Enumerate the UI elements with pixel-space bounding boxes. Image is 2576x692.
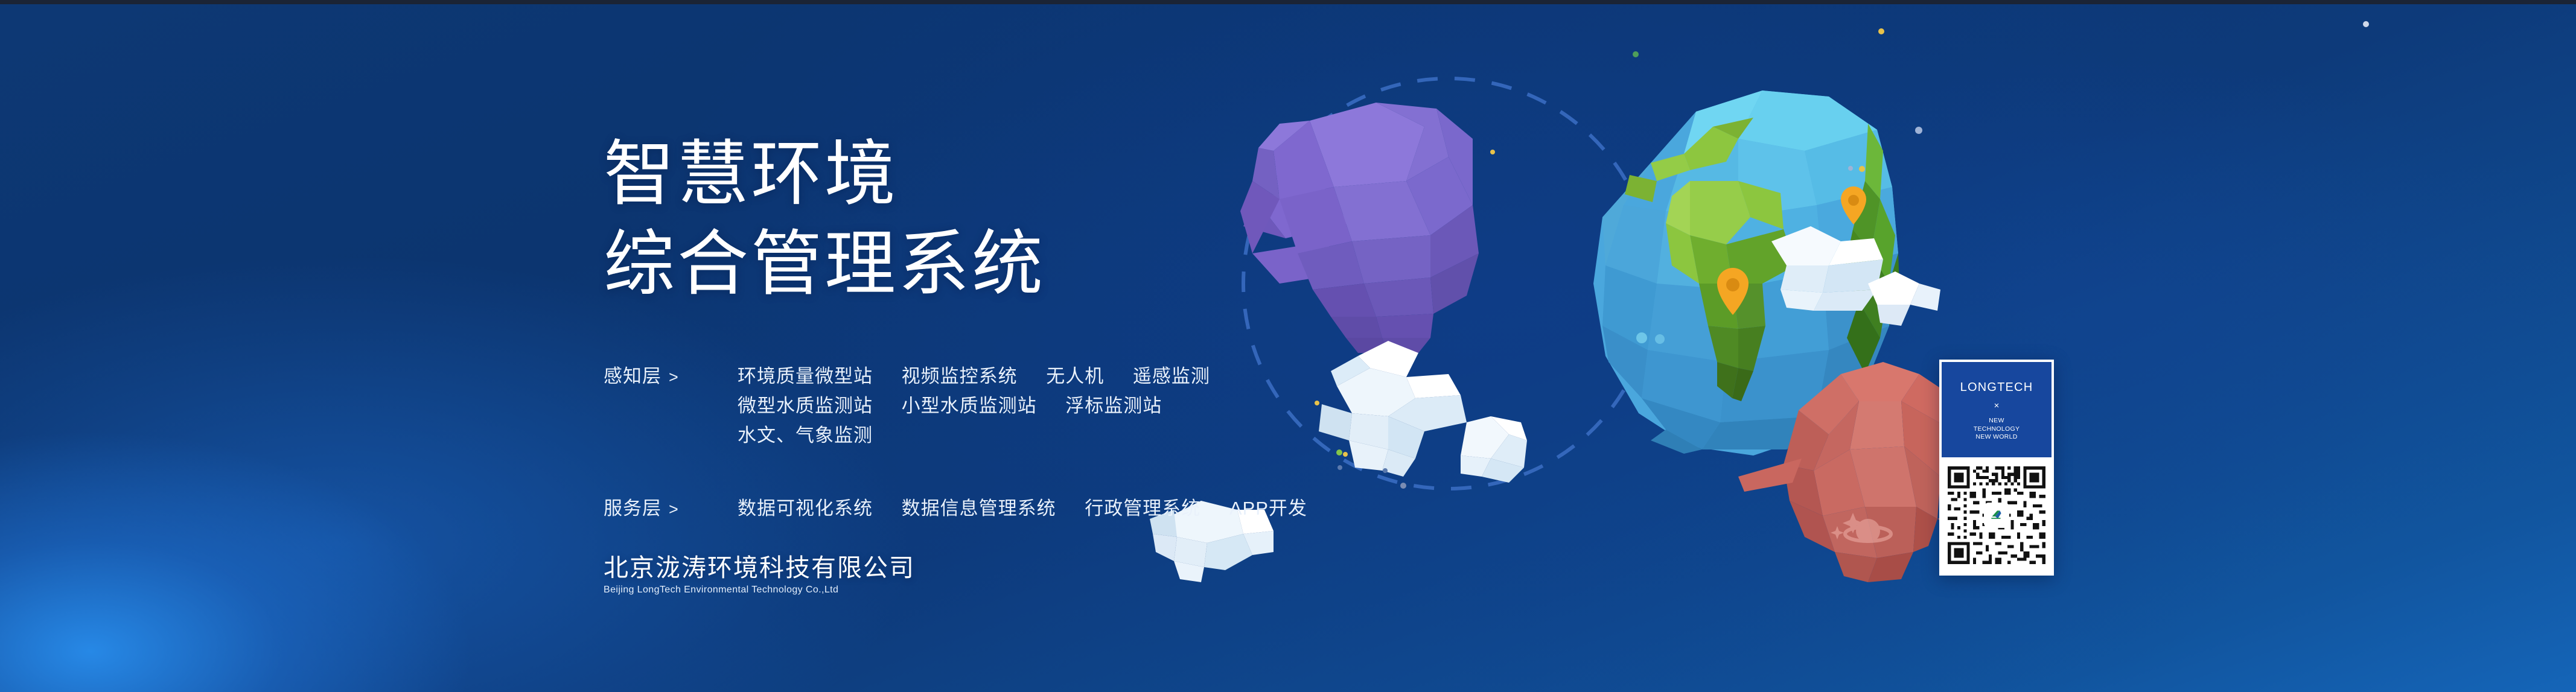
low-poly-cloud [1868, 271, 1940, 326]
low-poly-earth-globe [1593, 90, 1900, 456]
qr-brand-label: LONGTECH [1960, 381, 2033, 393]
layer-list: 感知层> 环境质量微型站 视频监控系统 无人机 遥感监测 微型水质监测站 小型水… [604, 362, 1509, 524]
layer-key-label: 感知层 [604, 366, 662, 387]
hero-title-block: 智慧环境 综合管理系统 [604, 130, 1449, 309]
hero-banner: 智慧环境 综合管理系统 感知层> 环境质量微型站 视频监控系统 无人机 遥感监测… [0, 0, 2576, 692]
chevron-right-icon: > [669, 500, 679, 518]
layer-item[interactable]: 浮标监测站 [1065, 395, 1162, 416]
low-poly-cloud [1771, 226, 1883, 311]
layer-line: 水文、气象监测 [738, 421, 1509, 451]
layer-line: 数据可视化系统 数据信息管理系统 行政管理系统 APP开发 [738, 494, 1509, 524]
glow-bottom-left [0, 386, 604, 692]
layer-item[interactable]: 环境质量微型站 [738, 366, 873, 387]
map-pin-icon [1841, 186, 1866, 224]
layer-item[interactable]: 水文、气象监测 [738, 425, 873, 446]
layer-item[interactable]: 微型水质监测站 [738, 395, 873, 416]
layer-values-service: 数据可视化系统 数据信息管理系统 行政管理系统 APP开发 [694, 494, 1509, 524]
layer-item[interactable]: 视频监控系统 [902, 366, 1018, 387]
layer-row-perception: 感知层> 环境质量微型站 视频监控系统 无人机 遥感监测 微型水质监测站 小型水… [604, 362, 1509, 451]
layer-key-service: 服务层> [604, 494, 694, 524]
qr-card-body [1942, 457, 2052, 573]
layer-item[interactable]: 行政管理系统 [1085, 498, 1200, 519]
layer-item[interactable]: 遥感监测 [1133, 366, 1210, 387]
qr-tagline-line-3: NEW WORLD [1974, 433, 2020, 441]
space-scene [0, 0, 2576, 692]
brand-logo-icon [1985, 504, 2008, 527]
layer-key-label: 服务层 [604, 498, 662, 519]
company-signature: 北京泷涛环境科技有限公司 Beijing LongTech Environmen… [604, 554, 915, 595]
layer-item[interactable]: 小型水质监测站 [902, 395, 1037, 416]
qr-tagline: NEW TECHNOLOGY NEW WORLD [1974, 417, 2020, 441]
layer-item[interactable]: 数据可视化系统 [738, 498, 873, 519]
layer-line: 微型水质监测站 小型水质监测站 浮标监测站 [738, 392, 1509, 421]
company-name-en: Beijing LongTech Environmental Technolog… [604, 585, 915, 595]
layer-line: 环境质量微型站 视频监控系统 无人机 遥感监测 [738, 362, 1509, 392]
layer-row-service: 服务层> 数据可视化系统 数据信息管理系统 行政管理系统 APP开发 [604, 494, 1509, 524]
layer-key-perception: 感知层> [604, 362, 694, 392]
title-line-2: 综合管理系统 [604, 220, 1449, 309]
qr-card[interactable]: LONGTECH × NEW TECHNOLOGY NEW WORLD [1939, 360, 2054, 576]
qr-tagline-line-2: TECHNOLOGY [1974, 425, 2020, 433]
title-line-1: 智慧环境 [604, 135, 898, 214]
qr-code-icon[interactable] [1945, 463, 2048, 567]
chevron-right-icon: > [669, 368, 679, 386]
saturn-icon [1831, 513, 1891, 543]
layer-values-perception: 环境质量微型站 视频监控系统 无人机 遥感监测 微型水质监测站 小型水质监测站 … [694, 362, 1509, 451]
map-pin-icon [1717, 268, 1749, 315]
red-planet [1738, 362, 1968, 582]
qr-tagline-line-1: NEW [1974, 417, 2020, 425]
layer-item[interactable]: APP开发 [1229, 498, 1307, 519]
page-title: 智慧环境 综合管理系统 [604, 130, 1449, 309]
layer-item[interactable]: 数据信息管理系统 [902, 498, 1056, 519]
cross-icon: × [1994, 401, 2000, 410]
layer-item[interactable]: 无人机 [1046, 366, 1104, 387]
top-strip [0, 0, 2576, 4]
company-name-cn: 北京泷涛环境科技有限公司 [604, 554, 915, 582]
qr-card-header: LONGTECH × NEW TECHNOLOGY NEW WORLD [1942, 362, 2052, 457]
